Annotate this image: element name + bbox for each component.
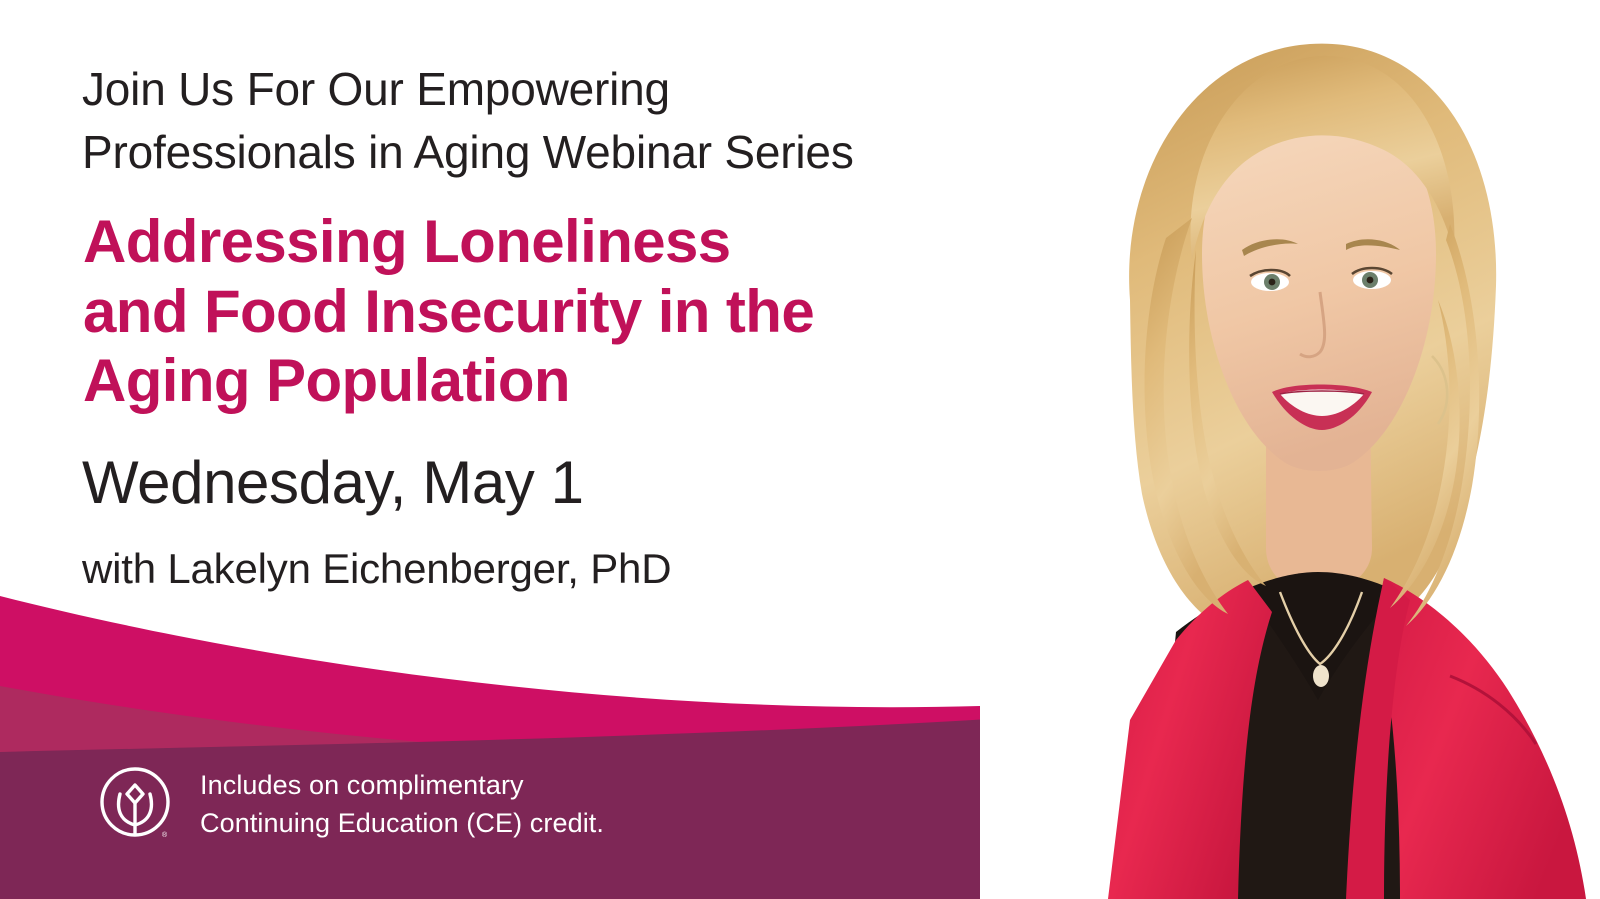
intro-text: Join Us For Our Empowering Professionals… bbox=[82, 0, 982, 185]
ce-credit-text: Includes on complimentary Continuing Edu… bbox=[200, 766, 604, 843]
registered-mark: ® bbox=[162, 831, 168, 839]
tulip-logo-icon: ® bbox=[96, 765, 174, 843]
pupil-right bbox=[1367, 277, 1374, 284]
speaker-photo bbox=[980, 0, 1600, 899]
headline-title: Addressing Loneliness and Food Insecurit… bbox=[83, 207, 982, 416]
webinar-promo-poster: Join Us For Our Empowering Professionals… bbox=[0, 0, 1600, 899]
pupil-left bbox=[1269, 279, 1276, 286]
footer-credit: ® Includes on complimentary Continuing E… bbox=[96, 765, 604, 843]
event-date: Wednesday, May 1 bbox=[82, 450, 982, 516]
text-column: Join Us For Our Empowering Professionals… bbox=[82, 0, 982, 592]
presenter-name: with Lakelyn Eichenberger, PhD bbox=[82, 546, 982, 592]
necklace-pendant bbox=[1313, 665, 1329, 687]
